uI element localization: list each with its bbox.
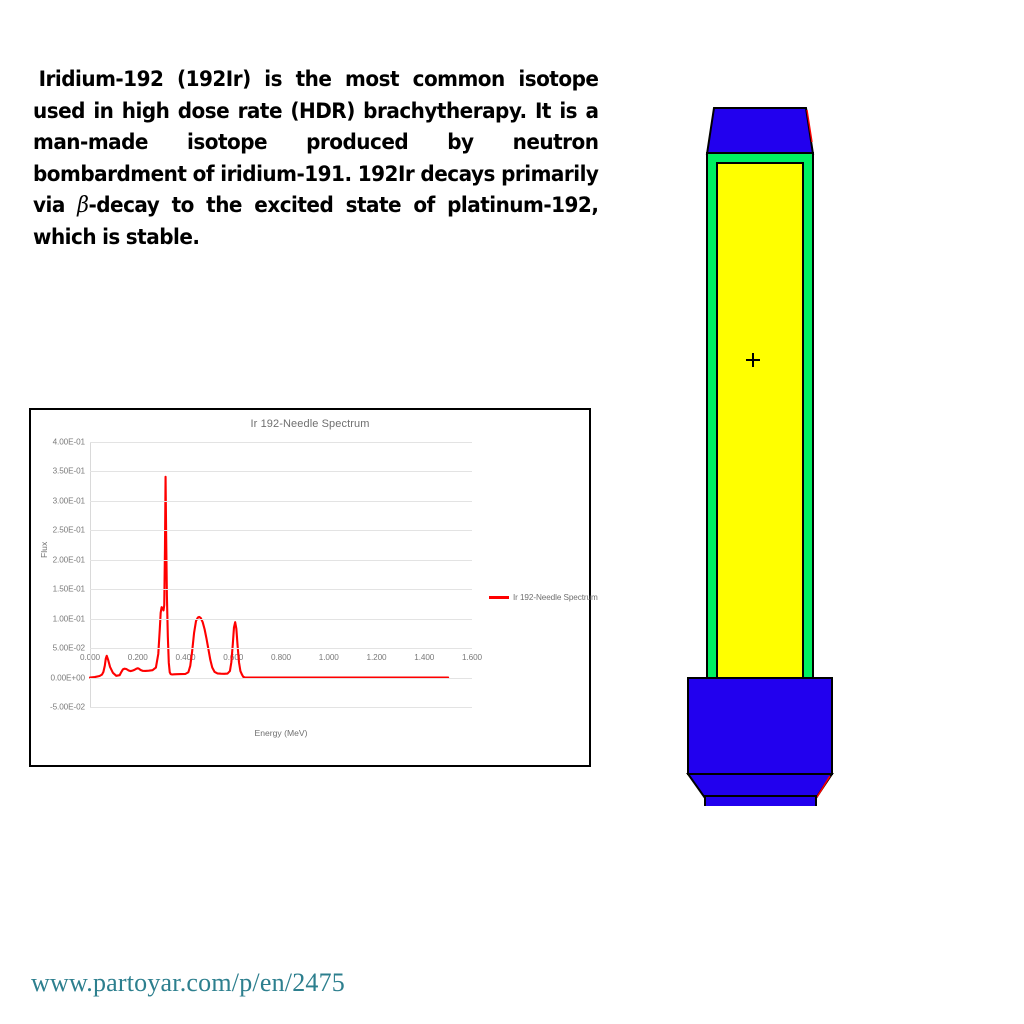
- chart-plot-area: [90, 442, 472, 707]
- chart-gridline: [90, 707, 472, 708]
- chart-title: Ir 192-Needle Spectrum: [31, 418, 589, 430]
- chart-inner: Ir 192-Needle Spectrum Flux 4.00E-013.50…: [31, 410, 589, 765]
- legend-label: Ir 192-Needle Spectrum: [513, 593, 598, 602]
- chart-y-tick-label: 1.00E-01: [53, 614, 85, 623]
- chart-y-tick-label: 2.50E-01: [53, 526, 85, 535]
- chart-y-tick-label: 3.50E-01: [53, 467, 85, 476]
- chart-gridline: [90, 589, 472, 590]
- body-paragraph: Iridium-192 (192Ir) is the most common i…: [33, 64, 598, 253]
- chart-x-axis-title: Energy (MeV): [90, 728, 472, 738]
- chart-gridline: [90, 619, 472, 620]
- chart-gridline: [90, 560, 472, 561]
- chart-y-tick-labels: 4.00E-013.50E-013.00E-012.50E-012.00E-01…: [31, 442, 85, 707]
- spectrum-line-svg: [90, 442, 472, 707]
- chart-gridline: [90, 648, 472, 649]
- chart-y-tick-label: 4.00E-01: [53, 438, 85, 447]
- chart-gridline: [90, 530, 472, 531]
- needle-active-core: [717, 163, 803, 684]
- chart-y-tick-label: 3.00E-01: [53, 496, 85, 505]
- chart-gridline: [90, 442, 472, 443]
- beta-symbol: β: [77, 193, 88, 218]
- chart-y-tick-label: 2.00E-01: [53, 555, 85, 564]
- chart-y-tick-label: 5.00E-02: [53, 644, 85, 653]
- chart-gridline: [90, 678, 472, 679]
- needle-hub-taper: [688, 774, 832, 798]
- chart-legend: Ir 192-Needle Spectrum: [489, 593, 598, 602]
- chart-y-tick-label: -5.00E-02: [50, 703, 85, 712]
- slide-canvas: Iridium-192 (192Ir) is the most common i…: [0, 0, 1024, 1024]
- needle-hub-upper: [688, 678, 832, 774]
- needle-svg: [676, 50, 844, 806]
- spectrum-chart: Ir 192-Needle Spectrum Flux 4.00E-013.50…: [29, 408, 591, 767]
- legend-color-swatch: [489, 596, 509, 598]
- body-text-block: Iridium-192 (192Ir) is the most common i…: [33, 64, 598, 253]
- chart-y-tick-label: 0.00E+00: [51, 673, 86, 682]
- needle-tip-cap: [707, 108, 813, 154]
- needle-source-diagram: [676, 50, 844, 806]
- paragraph-segment-2: -decay to the excited state of platinum-…: [33, 193, 598, 250]
- footer-url[interactable]: www.partoyar.com/p/en/2475: [31, 968, 345, 998]
- chart-gridline: [90, 471, 472, 472]
- chart-y-tick-label: 1.50E-01: [53, 585, 85, 594]
- chart-gridline: [90, 501, 472, 502]
- needle-hub-lower: [705, 796, 816, 806]
